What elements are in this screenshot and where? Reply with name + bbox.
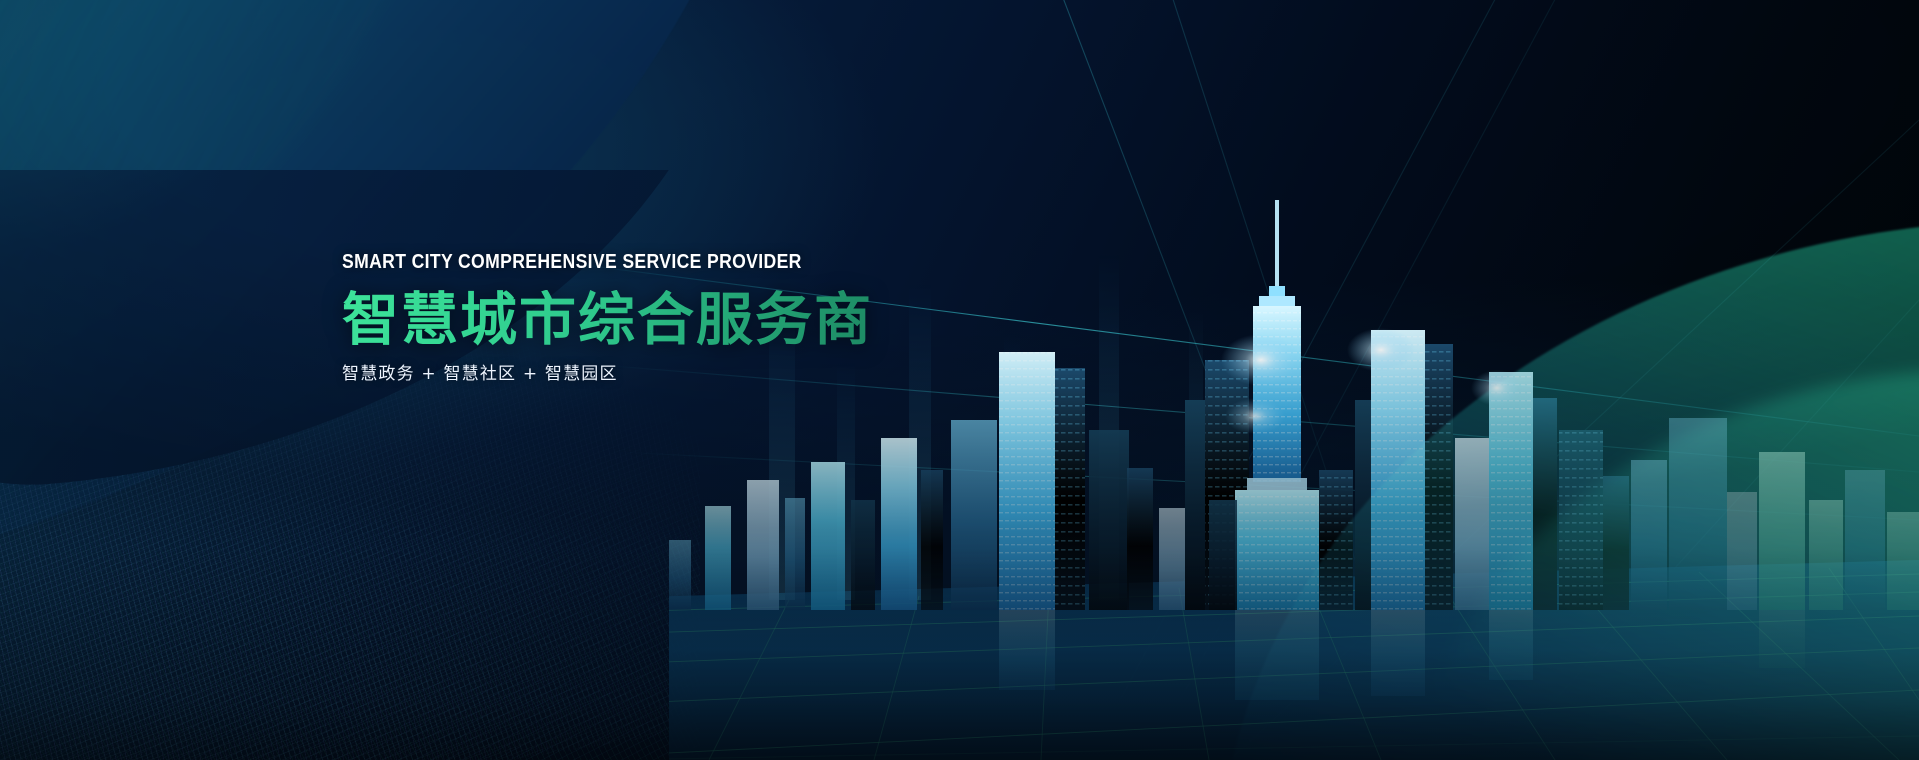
- hero-subline-text: 智慧政务 + 智慧社区 + 智慧园区: [342, 366, 873, 383]
- hero-eyebrow-text: SMART CITY COMPREHENSIVE SERVICE PROVIDE…: [342, 252, 809, 272]
- hero-headline-title: 智慧城市综合服务商: [342, 290, 873, 352]
- hero-copy-block: SMART CITY COMPREHENSIVE SERVICE PROVIDE…: [342, 252, 873, 383]
- skyline-bars-left: [669, 438, 943, 610]
- smart-city-hero-banner: SMART CITY COMPREHENSIVE SERVICE PROVIDE…: [0, 0, 1919, 760]
